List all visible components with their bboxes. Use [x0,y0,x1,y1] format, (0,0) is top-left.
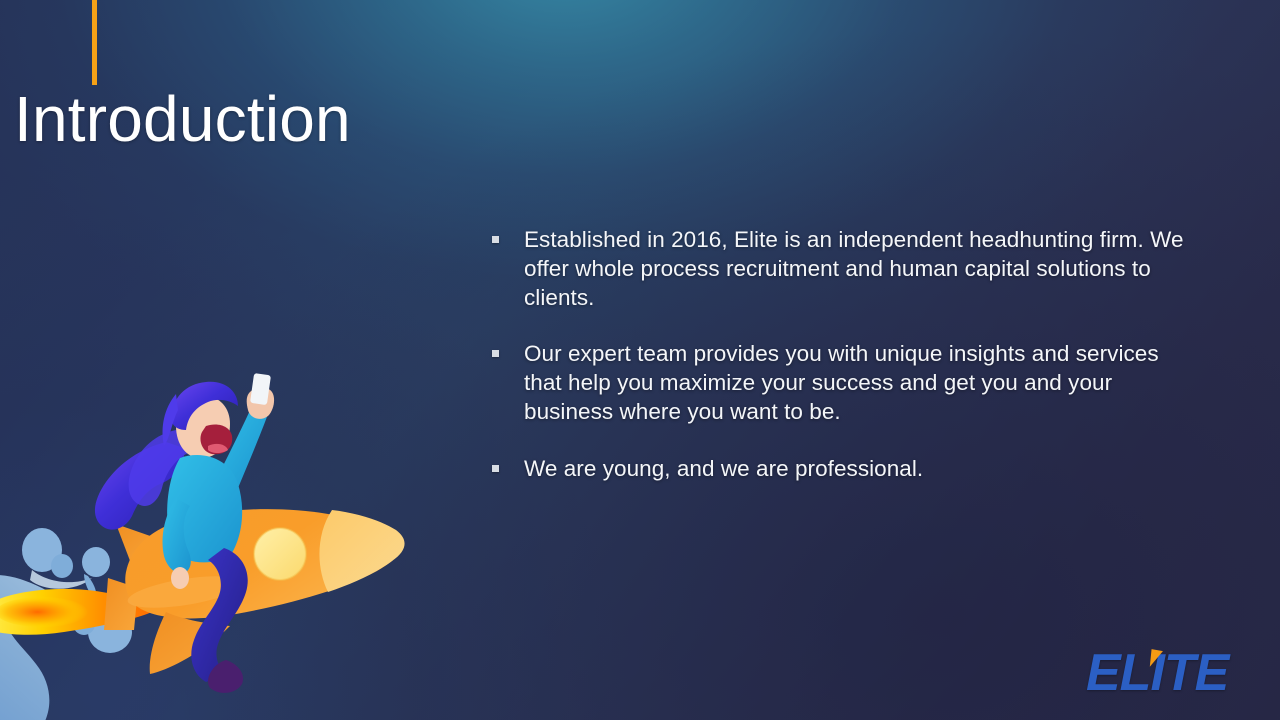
square-bullet-icon [492,226,524,243]
presentation-slide: Introduction [0,0,1280,720]
elite-logo: ELITE [1086,646,1236,702]
bullet-text: Our expert team provides you with unique… [524,340,1198,426]
page-title: Introduction [14,86,351,154]
title-accent-bar [92,0,97,85]
list-item: Established in 2016, Elite is an indepen… [492,226,1198,312]
square-bullet-icon [492,340,524,357]
woman-riding-rocket-illustration [0,330,410,720]
bullet-text: Established in 2016, Elite is an indepen… [524,226,1198,312]
bullet-text: We are young, and we are professional. [524,455,1198,484]
list-item: Our expert team provides you with unique… [492,340,1198,426]
square-bullet-icon [492,455,524,472]
body-content: Established in 2016, Elite is an indepen… [492,226,1198,484]
list-item: We are young, and we are professional. [492,455,1198,484]
